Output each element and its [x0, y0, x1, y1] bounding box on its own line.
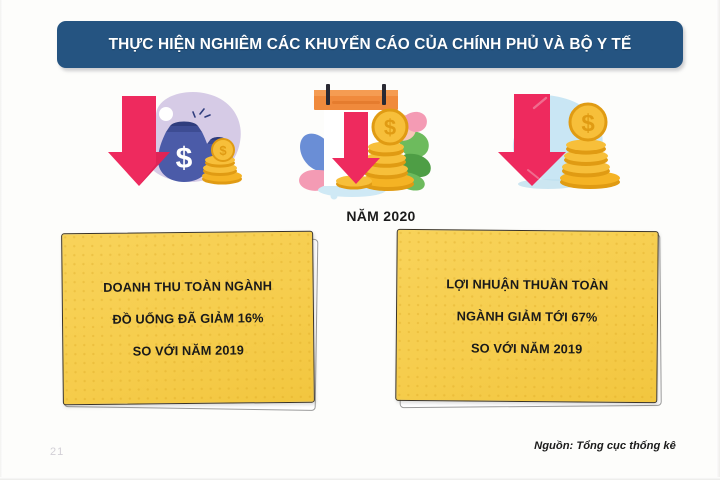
- blob-notch: [159, 107, 173, 121]
- coin-stack-decline-illustration: $: [488, 86, 638, 196]
- coin-dollar-sign: $: [581, 110, 595, 137]
- money-bag-large-neck: [166, 126, 202, 132]
- clip-right-icon: [382, 84, 386, 105]
- orange-sign-text-bar: [332, 101, 380, 104]
- profit-decline-card: LỢI NHUẬN THUẦN TOÀN NGÀNH GIẢM TỚI 67% …: [396, 230, 658, 402]
- coin-dollar-sign: $: [219, 143, 227, 158]
- money-bag-decline-svg: $ $: [104, 86, 254, 196]
- coin-dollar-sign: $: [384, 115, 396, 140]
- coin-stack-decline-svg: $: [488, 86, 638, 196]
- card-line-2: ĐỒ UỐNG ĐÃ GIẢM 16%: [112, 310, 263, 327]
- card-line-1: LỢI NHUẬN THUẦN TOÀN: [446, 276, 608, 292]
- slide-title-text: THỰC HIỆN NGHIÊM CÁC KHUYẾN CÁO CỦA CHÍN…: [109, 36, 632, 54]
- card-line-3: SO VỚI NĂM 2019: [133, 342, 244, 358]
- revenue-decline-card: DOANH THU TOÀN NGÀNH ĐỒ UỐNG ĐÃ GIẢM 16%…: [62, 232, 314, 404]
- card-front-layer: LỢI NHUẬN THUẦN TOÀN NGÀNH GIẢM TỚI 67% …: [395, 229, 658, 403]
- card-line-1: DOANH THU TOÀN NGÀNH: [103, 278, 272, 295]
- presentation-slide: THỰC HIỆN NGHIÊM CÁC KHUYẾN CÁO CỦA CHÍN…: [0, 0, 720, 480]
- year-label-text: NĂM 2020: [346, 208, 415, 224]
- slide-edge-right: [716, 0, 720, 480]
- card-front-layer: DOANH THU TOÀN NGÀNH ĐỒ UỐNG ĐÃ GIẢM 16%…: [61, 231, 315, 406]
- blue-dot: [331, 193, 338, 200]
- card-line-2: NGÀNH GIẢM TỚI 67%: [457, 308, 598, 324]
- clip-left-icon: [326, 84, 330, 105]
- card-line-3: SO VỚI NĂM 2019: [471, 340, 582, 356]
- calendar-decline-svg: $: [292, 84, 444, 204]
- year-label: NĂM 2020: [0, 208, 720, 224]
- page-number: 21: [50, 446, 64, 458]
- money-bag-decline-illustration: $ $: [104, 86, 254, 196]
- calendar-decline-illustration: $: [292, 84, 444, 204]
- slide-edge-left: [0, 0, 3, 480]
- slide-title-banner: THỰC HIỆN NGHIÊM CÁC KHUYẾN CÁO CỦA CHÍN…: [57, 21, 683, 68]
- dollar-sign-icon: $: [176, 142, 193, 175]
- coin-stack: [560, 139, 620, 189]
- source-note: Nguồn: Tổng cục thống kê: [520, 440, 690, 452]
